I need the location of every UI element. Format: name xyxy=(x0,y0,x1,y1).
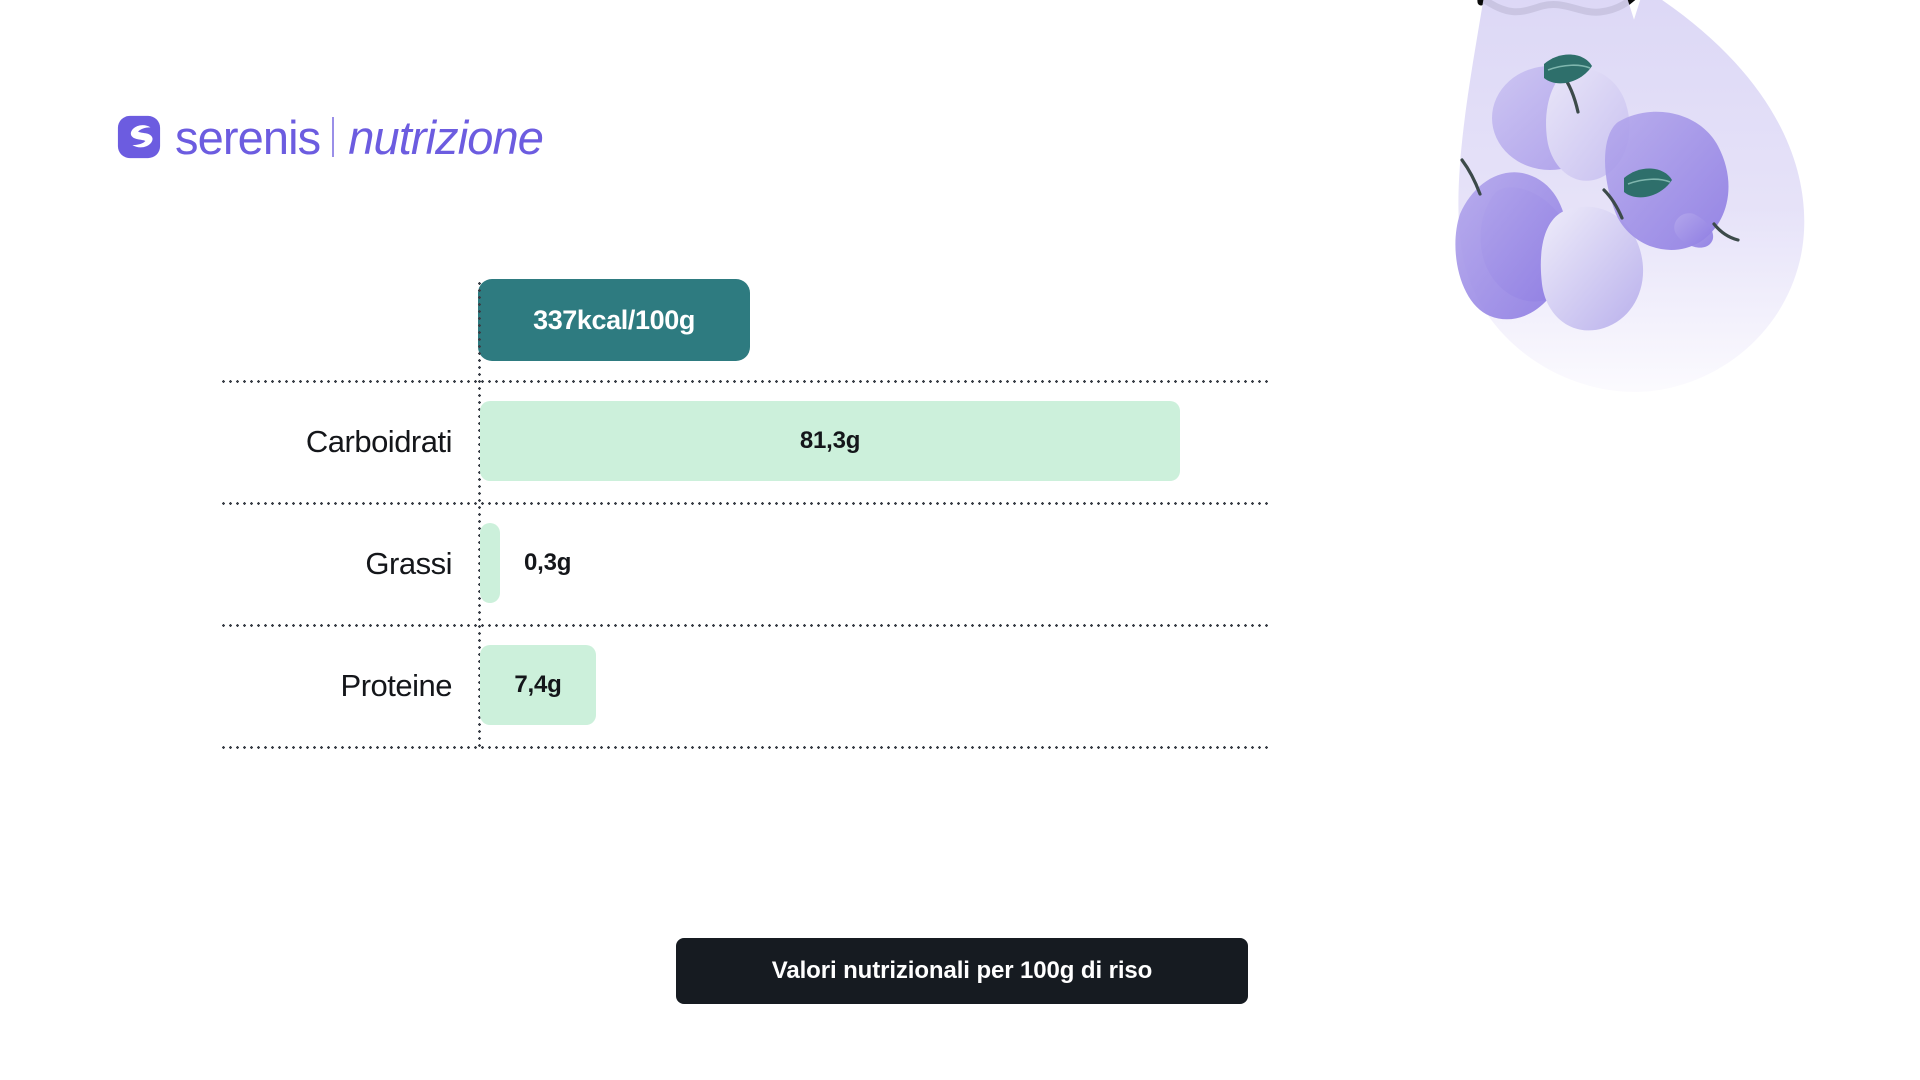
bar-grassi: 0,3g xyxy=(480,523,500,603)
brand-logo: serenis nutrizione xyxy=(117,107,543,167)
bag-handle-icon xyxy=(1480,0,1650,12)
bar-carboidrati: 81,3g xyxy=(480,401,1180,481)
bar-value-label: 7,4g xyxy=(514,671,561,699)
chart-caption-label: Valori nutrizionali per 100g di riso xyxy=(772,957,1153,985)
brand-product: nutrizione xyxy=(348,114,543,161)
brand-separator xyxy=(332,117,334,157)
bag-body xyxy=(1458,0,1804,392)
fruit-group xyxy=(1455,54,1738,330)
bar-category-label: Proteine xyxy=(220,670,466,701)
calorie-badge-label: 337kcal/100g xyxy=(533,305,695,336)
calorie-badge: 337kcal/100g xyxy=(478,279,750,361)
chart-row-carboidrati: Carboidrati 81,3g xyxy=(220,380,1270,502)
bar-value-label: 81,3g xyxy=(800,427,860,455)
nutrition-infographic-page: serenis nutrizione 337kcal/100g Carboidr… xyxy=(0,0,1920,1080)
brand-name: serenis xyxy=(175,114,320,161)
chart-row-proteine: Proteine 7,4g xyxy=(220,624,1270,746)
shopping-bag-with-fruit-illustration xyxy=(1418,0,1848,452)
bar-track: 7,4g xyxy=(466,624,1270,746)
serenis-s-logo-icon xyxy=(117,115,161,159)
bar-category-label: Grassi xyxy=(220,548,466,579)
bar-value-label: 0,3g xyxy=(524,549,571,577)
bar-proteine: 7,4g xyxy=(480,645,596,725)
leaf-icon xyxy=(1544,54,1672,197)
bar-category-label: Carboidrati xyxy=(220,426,466,457)
grid-line xyxy=(220,746,1270,749)
chart-caption: Valori nutrizionali per 100g di riso xyxy=(676,938,1248,1004)
chart-row-grassi: Grassi 0,3g xyxy=(220,502,1270,624)
bar-track: 0,3g xyxy=(466,502,1270,624)
bar-track: 81,3g xyxy=(466,380,1270,502)
